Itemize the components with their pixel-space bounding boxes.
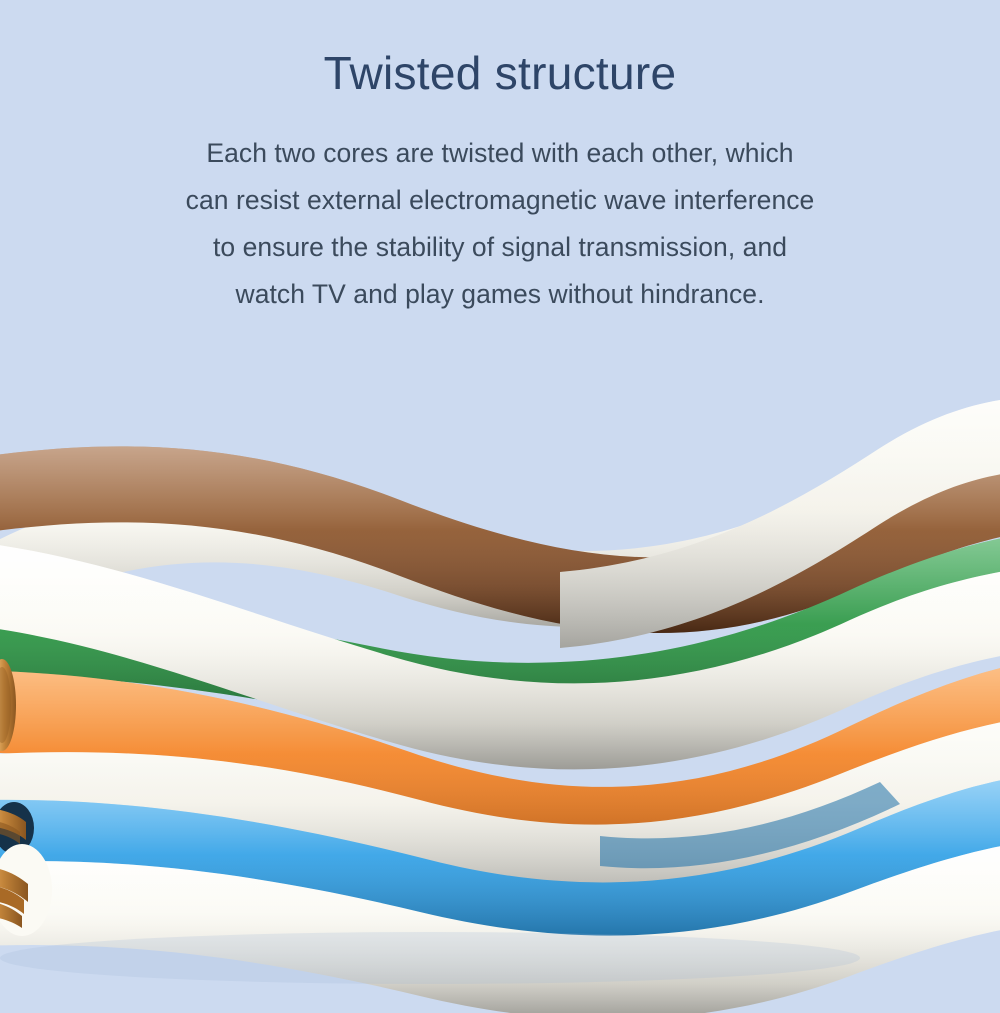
body-line-2: can resist external electromagnetic wave… bbox=[0, 177, 1000, 224]
cable-shadow bbox=[0, 932, 860, 984]
body-paragraph: Each two cores are twisted with each oth… bbox=[0, 97, 1000, 318]
page-title: Twisted structure bbox=[0, 0, 1000, 97]
body-line-3: to ensure the stability of signal transm… bbox=[0, 224, 1000, 271]
body-line-1: Each two cores are twisted with each oth… bbox=[0, 130, 1000, 177]
text-block: Twisted structure Each two cores are twi… bbox=[0, 0, 1000, 318]
product-feature-slide: Twisted structure Each two cores are twi… bbox=[0, 0, 1000, 1013]
body-line-4: watch TV and play games without hindranc… bbox=[0, 271, 1000, 318]
